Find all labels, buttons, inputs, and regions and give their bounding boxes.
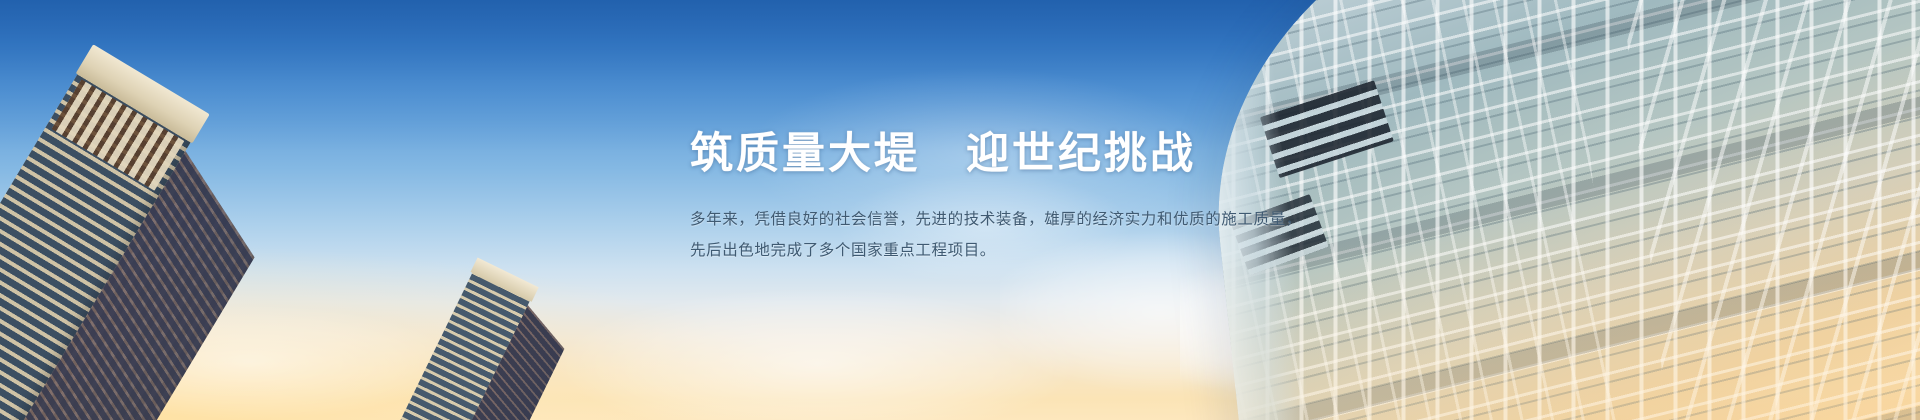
cloud-bank-lower-center <box>560 250 1120 420</box>
banner-headline: 筑质量大堤 迎世纪挑战 <box>690 132 1330 178</box>
banner-subtitle: 多年来，凭借良好的社会信誉，先进的技术装备，雄厚的经济实力和优质的施工质量， 先… <box>690 204 1330 268</box>
banner-subtitle-line-2: 先后出色地完成了多个国家重点工程项目。 <box>690 235 1330 267</box>
banner-subtitle-line-1: 多年来，凭借良好的社会信誉，先进的技术装备，雄厚的经济实力和优质的施工质量， <box>690 204 1330 236</box>
hero-banner: 筑质量大堤 迎世纪挑战 多年来，凭借良好的社会信誉，先进的技术装备，雄厚的经济实… <box>0 0 1920 420</box>
banner-copy-block: 筑质量大堤 迎世纪挑战 多年来，凭借良好的社会信誉，先进的技术装备，雄厚的经济实… <box>690 132 1330 267</box>
